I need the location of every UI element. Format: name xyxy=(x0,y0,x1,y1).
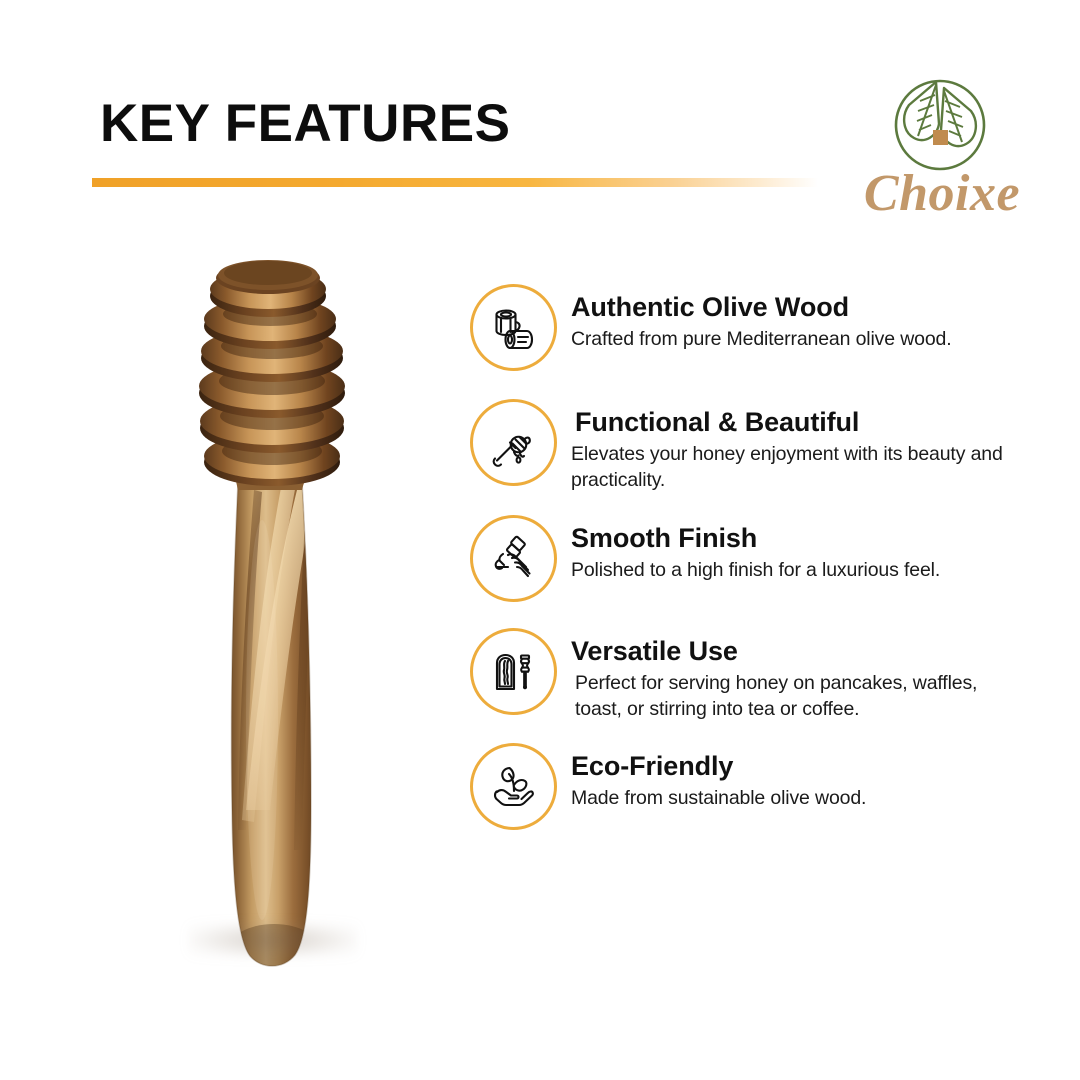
feature-text: Eco-Friendly Made from sustainable olive… xyxy=(571,743,866,812)
feature-description: Polished to a high finish for a luxuriou… xyxy=(571,558,940,584)
feature-title: Functional & Beautiful xyxy=(575,407,1003,439)
feature-description: Made from sustainable olive wood. xyxy=(571,786,866,812)
feature-title: Versatile Use xyxy=(571,636,1007,668)
feature-title: Smooth Finish xyxy=(571,523,940,555)
brand-wordmark: Choixe xyxy=(843,164,1041,223)
feature-description: Perfect for serving honey on pancakes, w… xyxy=(575,671,1007,722)
honey-dipper-illustration xyxy=(150,250,400,1010)
feature-item: Eco-Friendly Made from sustainable olive… xyxy=(470,743,1030,830)
title-underline-rule xyxy=(92,178,818,187)
key-features-infographic: KEY FEATURES Choixe xyxy=(0,0,1080,1080)
feature-item: Versatile Use Perfect for serving honey … xyxy=(470,628,1030,722)
toast-with-dipper-icon xyxy=(470,628,557,715)
feature-title: Authentic Olive Wood xyxy=(571,292,952,324)
product-shadow xyxy=(188,922,358,958)
feature-description: Crafted from pure Mediterranean olive wo… xyxy=(571,327,952,353)
product-image xyxy=(150,250,400,1010)
leaves-in-circle-icon xyxy=(887,72,993,174)
honey-dipper-icon xyxy=(470,399,557,486)
feature-text: Authentic Olive Wood Crafted from pure M… xyxy=(571,284,952,353)
feature-text: Smooth Finish Polished to a high finish … xyxy=(571,515,940,584)
feature-description: Elevates your honey enjoyment with its b… xyxy=(571,442,1003,493)
wood-log-icon xyxy=(470,284,557,371)
brand-logo: Choixe xyxy=(843,72,1041,224)
hand-sanding-block-icon xyxy=(470,515,557,602)
feature-text: Functional & Beautiful Elevates your hon… xyxy=(571,399,1003,493)
feature-item: Authentic Olive Wood Crafted from pure M… xyxy=(470,284,1030,371)
hand-holding-sprout-icon xyxy=(470,743,557,830)
feature-list: Authentic Olive Wood Crafted from pure M… xyxy=(470,284,1030,830)
feature-text: Versatile Use Perfect for serving honey … xyxy=(571,628,1007,722)
feature-item: Smooth Finish Polished to a high finish … xyxy=(470,515,1030,602)
feature-item: Functional & Beautiful Elevates your hon… xyxy=(470,399,1030,493)
feature-title: Eco-Friendly xyxy=(571,751,866,783)
page-title: KEY FEATURES xyxy=(100,96,510,152)
